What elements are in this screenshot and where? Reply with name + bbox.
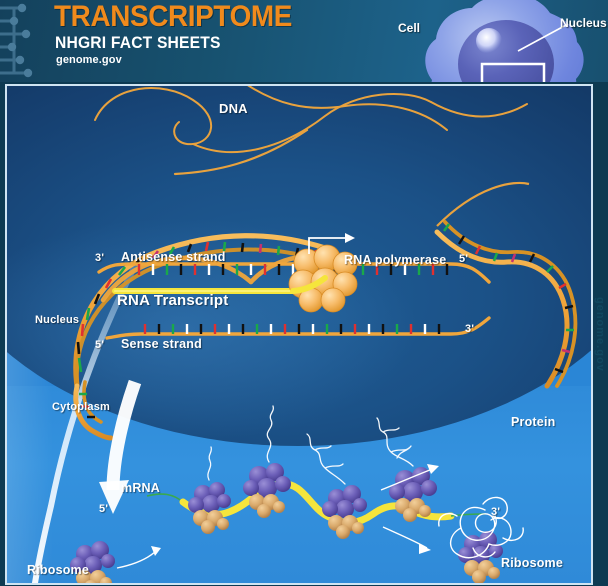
mrna-prime-left: 5': [99, 503, 108, 515]
protein-label: Protein: [511, 415, 555, 429]
antisense-prime-left: 3': [95, 252, 104, 264]
ribosome-on-mrna-2: [243, 463, 291, 518]
page-header: TRANSCRIPTOME NHGRI FACT SHEETS genome.g…: [0, 0, 608, 82]
cell-illustration: [400, 0, 608, 82]
nucleus-label-cell: Nucleus: [560, 16, 607, 30]
cytoplasm-label: Cytoplasm: [52, 401, 110, 413]
antisense-prime-right: 5': [459, 253, 468, 265]
page-watermark: genome.gov: [584, 86, 606, 582]
cell-label: Cell: [398, 21, 420, 35]
translation-diagram: [7, 86, 591, 583]
nascent-peptide-1: [208, 447, 212, 480]
antisense-strand-label: Antisense strand: [121, 250, 226, 264]
nucleus-label-panel: Nucleus: [35, 314, 79, 326]
sense-prime-left: 5': [95, 339, 104, 351]
dna-label: DNA: [219, 101, 248, 116]
sense-strand-label: Sense strand: [121, 337, 202, 351]
rna-polymerase-label: RNA polymerase: [344, 253, 446, 267]
ribosome-on-mrna-1: [188, 482, 231, 534]
ribosome-on-mrna-3: [322, 485, 367, 539]
dna-chip-decoration: [0, 2, 50, 80]
ribosome-label-right: Ribosome: [501, 556, 563, 570]
rna-transcript-label: RNA Transcript: [117, 292, 228, 309]
illustration-panel: DNA 3' Antisense strand 5' RNA polymeras…: [5, 84, 593, 585]
mrna-prime-right: 3': [491, 506, 500, 518]
site-domain: genome.gov: [56, 55, 122, 66]
nascent-peptide-2: [267, 406, 273, 462]
mrna-label: mRNA: [121, 481, 160, 495]
page-subtitle: NHGRI FACT SHEETS: [55, 34, 221, 51]
sense-prime-right: 3': [465, 323, 474, 335]
page-title: TRANSCRIPTOME: [54, 2, 292, 32]
ribosome-label-left: Ribosome: [27, 563, 89, 577]
nascent-peptide-3: [307, 434, 345, 484]
nascent-peptide-4: [377, 418, 413, 466]
nucleolus-highlight: [476, 28, 502, 54]
ribosome-on-mrna-4: [389, 467, 437, 522]
fact-sheet-page: TRANSCRIPTOME NHGRI FACT SHEETS genome.g…: [0, 0, 608, 586]
